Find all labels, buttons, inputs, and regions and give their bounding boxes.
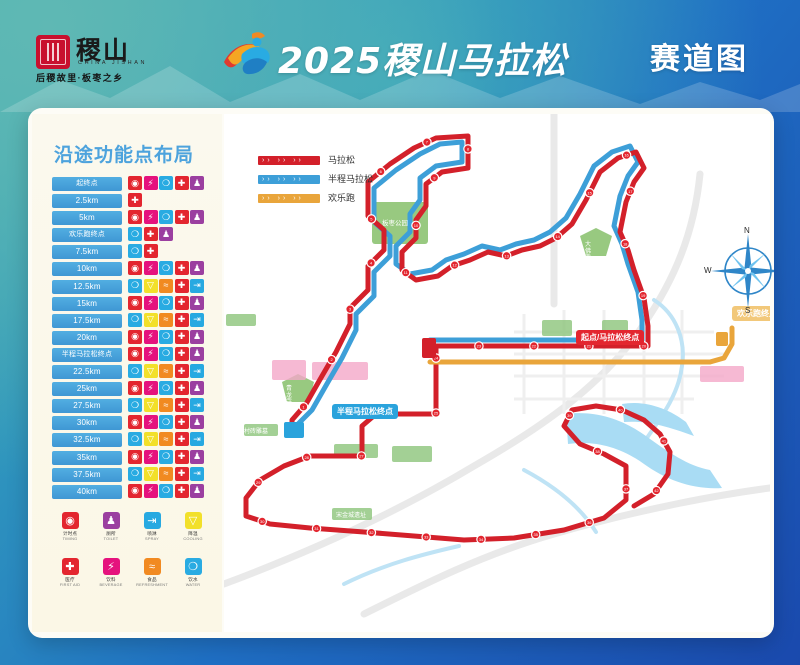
icon-legend-item: ⚡饮料BEVERAGE — [91, 558, 131, 588]
icon-legend-label-en: BEVERAGE — [91, 583, 131, 588]
firstaid-icon: ✚ — [175, 279, 189, 293]
firstaid-icon: ✚ — [175, 347, 189, 361]
facility-row[interactable]: 22.5km❍▽≈✚⇥ — [52, 364, 222, 381]
facility-distance-pill: 起终点 — [52, 177, 122, 191]
beverage-icon: ⚡ — [144, 347, 158, 361]
icon-legend-item: ♟厕所TOILET — [91, 512, 131, 542]
runner-mascot-icon — [222, 28, 272, 80]
firstaid-icon: ✚ — [175, 398, 189, 412]
beverage-icon: ⚡ — [144, 484, 158, 498]
km-marker-label: 17 — [628, 189, 633, 194]
spray-icon: ⇥ — [190, 364, 204, 378]
facility-row[interactable]: 起终点◉⚡❍✚♟ — [52, 176, 222, 193]
firstaid-icon: ✚ — [175, 261, 189, 275]
water-icon: ❍ — [159, 296, 173, 310]
main-card: 沿途功能点布局 起终点◉⚡❍✚♟2.5km✚5km◉⚡❍✚♟欢乐跑终点❍✚♟7.… — [28, 108, 774, 638]
icon-legend-label-en: TIMING — [50, 537, 90, 542]
half-finish-marker — [284, 422, 304, 438]
firstaid-icon: ✚ — [175, 432, 189, 446]
km-marker-label: 39 — [567, 413, 572, 418]
km-marker-label: 19 — [641, 293, 646, 298]
water-icon: ❍ — [128, 432, 142, 446]
refresh-icon: ≈ — [159, 364, 173, 378]
firstaid-icon: ✚ — [62, 558, 79, 575]
firstaid-icon: ✚ — [128, 193, 142, 207]
beverage-icon: ⚡ — [103, 558, 120, 575]
cooling-icon: ▽ — [144, 432, 158, 446]
water-icon: ❍ — [185, 558, 202, 575]
km-marker-label: 32 — [369, 530, 374, 535]
beverage-icon: ⚡ — [144, 261, 158, 275]
water-icon: ❍ — [128, 279, 142, 293]
firstaid-icon: ✚ — [175, 450, 189, 464]
facility-row[interactable]: 30km◉⚡❍✚♟ — [52, 415, 222, 432]
water-icon: ❍ — [159, 381, 173, 395]
spray-icon: ⇥ — [190, 467, 204, 481]
water-icon: ❍ — [128, 467, 142, 481]
water-icon: ❍ — [128, 244, 142, 258]
callout-half-finish: 半程马拉松终点 — [332, 404, 398, 419]
icon-legend-label-en: COOLING — [173, 537, 213, 542]
beverage-icon: ⚡ — [144, 176, 158, 190]
facility-row[interactable]: 半程马拉松终点◉⚡❍✚♟ — [52, 347, 222, 364]
water-icon: ❍ — [128, 313, 142, 327]
place-label-park: 板枣公园 — [382, 217, 408, 227]
facility-distance-pill: 32.5km — [52, 433, 122, 447]
facility-distance-pill: 15km — [52, 297, 122, 311]
facility-icon-group: ❍▽≈✚⇥ — [128, 467, 204, 483]
km-marker-label: 37 — [624, 486, 629, 491]
facility-icon-group: ◉⚡❍✚♟ — [128, 210, 204, 226]
km-marker-label: 13 — [504, 253, 509, 258]
course-map[interactable]: 1234567891011121314151617181920212223242… — [224, 114, 770, 632]
km-marker-label: 34 — [479, 537, 484, 542]
km-marker-label: 23 — [477, 344, 482, 349]
icon-legend: ◉计时点TIMING♟厕所TOILET⇥喷淋SPRAY▽降温COOLING✚医疗… — [50, 512, 210, 604]
facility-icon-group: ❍▽≈✚⇥ — [128, 364, 204, 380]
compass-label-west: W — [704, 266, 712, 275]
firstaid-icon: ✚ — [144, 227, 158, 241]
facility-distance-pill: 半程马拉松终点 — [52, 348, 122, 362]
facility-distance-pill: 7.5km — [52, 245, 122, 259]
firstaid-icon: ✚ — [175, 415, 189, 429]
toilet-icon: ♟ — [103, 512, 120, 529]
facility-distance-pill: 20km — [52, 331, 122, 345]
place-label-song-jin-site: 宋金城遗址 — [336, 510, 366, 519]
km-marker-label: 15 — [587, 190, 592, 195]
water-icon: ❍ — [159, 415, 173, 429]
water-icon: ❍ — [159, 176, 173, 190]
timing-icon: ◉ — [128, 381, 142, 395]
icon-legend-label-en: WATER — [173, 583, 213, 588]
km-marker-label: 22 — [532, 344, 537, 349]
icon-legend-label-en: REFRESHMENT — [132, 583, 172, 588]
spray-icon: ⇥ — [190, 432, 204, 446]
facility-row[interactable]: 27.5km❍▽≈✚⇥ — [52, 398, 222, 415]
facility-row[interactable]: 20km◉⚡❍✚♟ — [52, 330, 222, 347]
facility-icon-group: ❍✚ — [128, 244, 158, 260]
toilet-icon: ♟ — [190, 261, 204, 275]
facility-distance-pill: 5km — [52, 211, 122, 225]
icon-legend-item: ✚医疗FIRST AID — [50, 558, 90, 588]
km-marker-label: 42 — [654, 488, 659, 493]
timing-icon: ◉ — [128, 450, 142, 464]
km-marker-label: 38 — [595, 449, 600, 454]
facility-icon-group: ❍▽≈✚⇥ — [128, 313, 204, 329]
page-title: 2025稷山马拉松 — [278, 32, 567, 84]
sidebar-title: 沿途功能点布局 — [54, 140, 224, 167]
cooling-icon: ▽ — [144, 467, 158, 481]
firstaid-icon: ✚ — [175, 313, 189, 327]
facility-icon-group: ❍▽≈✚⇥ — [128, 279, 204, 295]
icon-legend-label-en: TOILET — [91, 537, 131, 542]
facility-icon-group: ✚ — [128, 193, 142, 209]
icon-legend-item: ❍饮水WATER — [173, 558, 213, 588]
toilet-icon: ♟ — [159, 227, 173, 241]
legend-swatch-fun-run — [258, 194, 320, 203]
icon-legend-label-en: FIRST AID — [50, 583, 90, 588]
facility-icon-group: ◉⚡❍✚♟ — [128, 176, 204, 192]
km-marker-label: 25 — [434, 411, 439, 416]
legend-item-marathon: 马拉松 — [258, 152, 418, 171]
firstaid-icon: ✚ — [175, 467, 189, 481]
km-marker-label: 18 — [623, 241, 628, 246]
facility-distance-pill: 22.5km — [52, 365, 122, 379]
km-marker-label: 40 — [618, 407, 623, 412]
km-marker-label: 30 — [260, 519, 265, 524]
facility-icon-group: ◉⚡❍✚♟ — [128, 484, 204, 500]
km-marker-label: 27 — [359, 454, 364, 459]
km-marker-label: 35 — [533, 532, 538, 537]
timing-icon: ◉ — [128, 210, 142, 224]
km-marker-label: 10 — [414, 223, 419, 228]
beverage-icon: ⚡ — [144, 330, 158, 344]
cooling-icon: ▽ — [185, 512, 202, 529]
facility-row[interactable]: 40km◉⚡❍✚♟ — [52, 484, 222, 501]
facility-icon-group: ◉⚡❍✚♟ — [128, 415, 204, 431]
facility-distance-pill: 27.5km — [52, 399, 122, 413]
facility-icon-group: ◉⚡❍✚♟ — [128, 330, 204, 346]
facility-distance-pill: 12.5km — [52, 280, 122, 294]
river-shape — [566, 413, 722, 488]
icon-legend-label-en: SPRAY — [132, 537, 172, 542]
water-icon: ❍ — [128, 398, 142, 412]
km-marker-label: 36 — [587, 520, 592, 525]
km-marker-label: 12 — [452, 263, 457, 268]
beverage-icon: ⚡ — [144, 381, 158, 395]
refresh-icon: ≈ — [159, 432, 173, 446]
refresh-icon: ≈ — [144, 558, 161, 575]
facility-icon-group: ◉⚡❍✚♟ — [128, 347, 204, 363]
timing-icon: ◉ — [128, 296, 142, 310]
toilet-icon: ♟ — [190, 330, 204, 344]
icon-legend-item: ▽降温COOLING — [173, 512, 213, 542]
callout-start-finish: 起点/马拉松终点 — [576, 330, 644, 345]
firstaid-icon: ✚ — [175, 296, 189, 310]
timing-icon: ◉ — [128, 261, 142, 275]
facility-icon-group: ❍▽≈✚⇥ — [128, 432, 204, 448]
water-icon: ❍ — [128, 364, 142, 378]
facility-row[interactable]: 17.5km❍▽≈✚⇥ — [52, 313, 222, 330]
timing-icon: ◉ — [62, 512, 79, 529]
cooling-icon: ▽ — [144, 364, 158, 378]
beverage-icon: ⚡ — [144, 210, 158, 224]
route-legend: 马拉松 半程马拉松 欢乐跑 — [258, 152, 418, 209]
facility-row[interactable]: 10km◉⚡❍✚♟ — [52, 261, 222, 278]
facility-icon-group: ◉⚡❍✚♟ — [128, 381, 204, 397]
legend-item-fun-run: 欢乐跑 — [258, 190, 418, 209]
compass-rose: N E S W — [704, 226, 774, 316]
toilet-icon: ♟ — [190, 176, 204, 190]
facility-row[interactable]: 欢乐跑终点❍✚♟ — [52, 227, 222, 244]
fun-run-finish-marker — [716, 332, 728, 346]
toilet-icon: ♟ — [190, 347, 204, 361]
facility-icon-group: ◉⚡❍✚♟ — [128, 261, 204, 277]
start-finish-marker — [422, 338, 436, 358]
firstaid-icon: ✚ — [175, 210, 189, 224]
facility-row[interactable]: 32.5km❍▽≈✚⇥ — [52, 432, 222, 449]
logo-english-name: CHINA JISHAN — [78, 60, 147, 66]
facility-distance-pill: 30km — [52, 416, 122, 430]
timing-icon: ◉ — [128, 484, 142, 498]
toilet-icon: ♟ — [190, 484, 204, 498]
place-label-temple: 大佛寺 — [585, 242, 595, 262]
water-icon: ❍ — [159, 261, 173, 275]
event-logo: 稷山 CHINA JISHAN 后稷故里·板枣之乡 — [36, 33, 156, 85]
km-marker-label: 16 — [624, 153, 629, 158]
water-icon: ❍ — [159, 347, 173, 361]
km-marker-label: 28 — [304, 455, 309, 460]
km-marker-label: 33 — [424, 535, 429, 540]
facility-icon-group: ❍✚♟ — [128, 227, 173, 243]
firstaid-icon: ✚ — [175, 364, 189, 378]
facility-row-list: 起终点◉⚡❍✚♟2.5km✚5km◉⚡❍✚♟欢乐跑终点❍✚♟7.5km❍✚10k… — [52, 176, 222, 501]
page-root: 稷山 CHINA JISHAN 后稷故里·板枣之乡 2025稷山马拉松 赛道图 … — [0, 0, 800, 665]
spray-icon: ⇥ — [190, 279, 204, 293]
cooling-icon: ▽ — [144, 313, 158, 327]
beverage-icon: ⚡ — [144, 296, 158, 310]
toilet-icon: ♟ — [190, 450, 204, 464]
beverage-icon: ⚡ — [144, 450, 158, 464]
toilet-icon: ♟ — [190, 381, 204, 395]
beverage-icon: ⚡ — [144, 415, 158, 429]
place-label-brick-tomb: 马村砖雕墓 — [238, 426, 268, 435]
legend-label-half-marathon: 半程马拉松 — [328, 172, 373, 185]
facility-distance-pill: 17.5km — [52, 314, 122, 328]
firstaid-icon: ✚ — [175, 484, 189, 498]
facility-distance-pill: 10km — [52, 262, 122, 276]
toilet-icon: ♟ — [190, 415, 204, 429]
legend-label-fun-run: 欢乐跑 — [328, 191, 355, 204]
refresh-icon: ≈ — [159, 467, 173, 481]
firstaid-icon: ✚ — [175, 176, 189, 190]
facility-row[interactable]: 37.5km❍▽≈✚⇥ — [52, 467, 222, 484]
km-marker-label: 14 — [555, 234, 560, 239]
cooling-icon: ▽ — [144, 279, 158, 293]
timing-icon: ◉ — [128, 176, 142, 190]
facility-distance-pill: 40km — [52, 485, 122, 499]
km-marker-label: 29 — [256, 480, 261, 485]
facility-distance-pill: 25km — [52, 382, 122, 396]
facility-row[interactable]: 15km◉⚡❍✚♟ — [52, 296, 222, 313]
facility-distance-pill: 欢乐跑终点 — [52, 228, 122, 242]
compass-label-north: N — [744, 226, 750, 235]
toilet-icon: ♟ — [190, 296, 204, 310]
sidebar-panel: 沿途功能点布局 起终点◉⚡❍✚♟2.5km✚5km◉⚡❍✚♟欢乐跑终点❍✚♟7.… — [32, 114, 222, 632]
water-icon: ❍ — [159, 210, 173, 224]
facility-distance-pill: 37.5km — [52, 468, 122, 482]
water-icon: ❍ — [159, 330, 173, 344]
facility-row[interactable]: 35km◉⚡❍✚♟ — [52, 450, 222, 467]
facility-icon-group: ◉⚡❍✚♟ — [128, 450, 204, 466]
legend-label-marathon: 马拉松 — [328, 153, 355, 166]
km-marker-label: 41 — [662, 439, 667, 444]
facility-distance-pill: 35km — [52, 451, 122, 465]
timing-icon: ◉ — [128, 415, 142, 429]
water-icon: ❍ — [159, 484, 173, 498]
firstaid-icon: ✚ — [175, 330, 189, 344]
toilet-icon: ♟ — [190, 210, 204, 224]
legend-swatch-marathon — [258, 156, 320, 165]
refresh-icon: ≈ — [159, 398, 173, 412]
facility-row[interactable]: 25km◉⚡❍✚♟ — [52, 381, 222, 398]
page-subtitle: 赛道图 — [650, 34, 749, 78]
timing-icon: ◉ — [128, 347, 142, 361]
facility-row[interactable]: 12.5km❍▽≈✚⇥ — [52, 279, 222, 296]
logo-tagline: 后稷故里·板枣之乡 — [36, 71, 124, 84]
facility-distance-pill: 2.5km — [52, 194, 122, 208]
facility-row[interactable]: 2.5km✚ — [52, 193, 222, 210]
firstaid-icon: ✚ — [144, 244, 158, 258]
icon-legend-item: ≈食品REFRESHMENT — [132, 558, 172, 588]
spray-icon: ⇥ — [190, 398, 204, 412]
firstaid-icon: ✚ — [175, 381, 189, 395]
legend-item-half-marathon: 半程马拉松 — [258, 171, 418, 190]
facility-icon-group: ❍▽≈✚⇥ — [128, 398, 204, 414]
icon-legend-item: ◉计时点TIMING — [50, 512, 90, 542]
spray-icon: ⇥ — [190, 313, 204, 327]
facility-icon-group: ◉⚡❍✚♟ — [128, 296, 204, 312]
facility-row[interactable]: 5km◉⚡❍✚♟ — [52, 210, 222, 227]
water-icon: ❍ — [159, 450, 173, 464]
spray-icon: ⇥ — [144, 512, 161, 529]
icon-legend-item: ⇥喷淋SPRAY — [132, 512, 172, 542]
legend-swatch-half-marathon — [258, 175, 320, 184]
compass-label-south: S — [745, 306, 750, 315]
place-label-qinglong-temple: 青龙寺 — [286, 386, 297, 406]
refresh-icon: ≈ — [159, 279, 173, 293]
facility-row[interactable]: 7.5km❍✚ — [52, 244, 222, 261]
cooling-icon: ▽ — [144, 398, 158, 412]
km-marker-label: 31 — [314, 526, 319, 531]
seal-icon — [36, 35, 70, 69]
water-icon: ❍ — [128, 227, 142, 241]
page-header: 稷山 CHINA JISHAN 后稷故里·板枣之乡 2025稷山马拉松 赛道图 — [0, 0, 800, 108]
timing-icon: ◉ — [128, 330, 142, 344]
refresh-icon: ≈ — [159, 313, 173, 327]
